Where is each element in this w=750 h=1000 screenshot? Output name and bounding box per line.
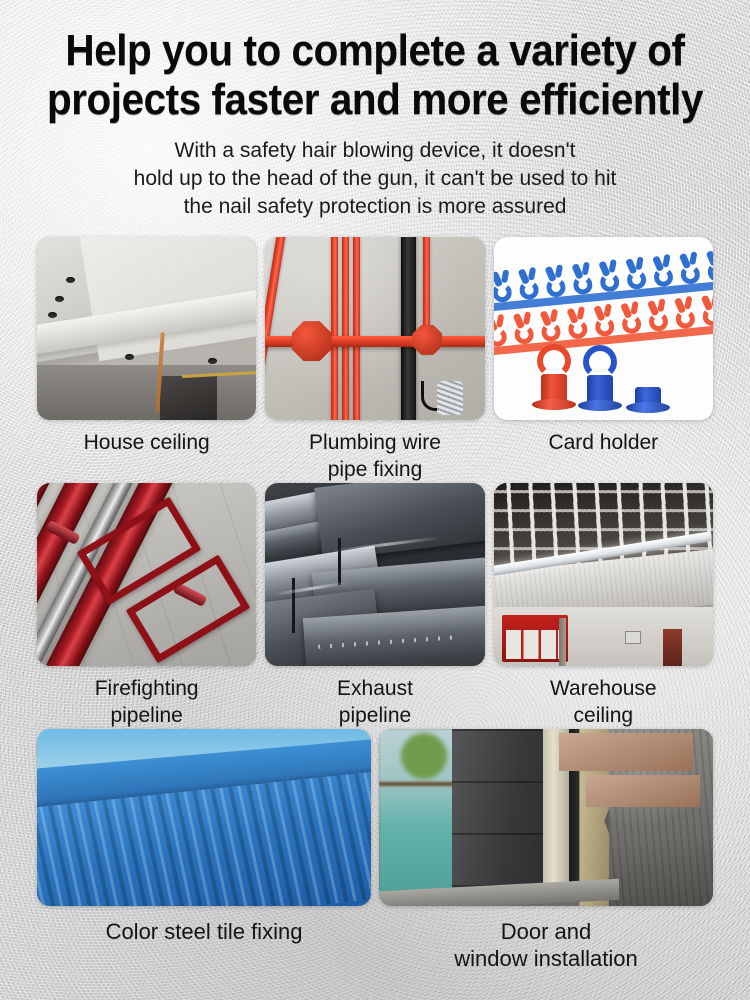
gallery-item-caption: Firefighting pipeline xyxy=(37,666,256,729)
gallery-item-door-window-installation[interactable]: Door and window installation xyxy=(379,729,713,972)
gallery-item-card-holder[interactable]: Card holder xyxy=(494,237,713,483)
gallery-item-caption: Card holder xyxy=(494,420,713,482)
headline-line-1: Help you to complete a variety of xyxy=(30,26,720,75)
gallery-item-exhaust-pipeline[interactable]: Exhaust pipeline xyxy=(265,483,484,729)
card-holder-product-photo xyxy=(494,237,713,420)
gallery-item-caption: Door and window installation xyxy=(379,906,713,972)
application-gallery: House ceiling xyxy=(0,221,750,972)
gallery-row: Firefighting pipeline xyxy=(37,483,713,729)
single-clip-red xyxy=(529,342,579,404)
gallery-item-color-steel-tile-fixing[interactable]: Color steel tile fixing xyxy=(37,729,371,972)
subtitle-line-1: With a safety hair blowing device, it do… xyxy=(0,137,750,165)
gallery-item-warehouse-ceiling[interactable]: Warehouse ceiling xyxy=(494,483,713,729)
gallery-item-caption: Exhaust pipeline xyxy=(265,666,484,729)
gallery-item-house-ceiling[interactable]: House ceiling xyxy=(37,237,256,483)
single-clip-blue xyxy=(577,349,623,405)
gallery-item-caption: Warehouse ceiling xyxy=(494,666,713,729)
single-clip-base-blue xyxy=(625,373,671,407)
gallery-item-caption: House ceiling xyxy=(37,420,256,482)
promo-page: Help you to complete a variety of projec… xyxy=(0,0,750,1000)
warehouse-ceiling-photo xyxy=(494,483,713,666)
page-title: Help you to complete a variety of projec… xyxy=(30,0,720,124)
firefighting-pipeline-photo xyxy=(37,483,256,666)
gallery-row: Color steel tile fixing xyxy=(37,729,713,972)
plumbing-wire-pipe-fixing-photo xyxy=(265,237,484,420)
subtitle-line-2: hold up to the head of the gun, it can't… xyxy=(0,165,750,193)
gallery-row: House ceiling xyxy=(37,237,713,483)
gallery-item-caption: Plumbing wire pipe fixing xyxy=(265,420,484,483)
gallery-item-firefighting-pipeline[interactable]: Firefighting pipeline xyxy=(37,483,256,729)
house-ceiling-photo xyxy=(37,237,256,420)
exhaust-pipeline-photo xyxy=(265,483,484,666)
gallery-item-caption: Color steel tile fixing xyxy=(37,906,371,968)
gallery-item-plumbing-wire-pipe-fixing[interactable]: Plumbing wire pipe fixing xyxy=(265,237,484,483)
headline-line-2: projects faster and more efficiently xyxy=(30,75,720,124)
page-subtitle: With a safety hair blowing device, it do… xyxy=(0,124,750,221)
color-steel-tile-roof-photo xyxy=(37,729,371,906)
door-window-installation-photo xyxy=(379,729,713,906)
subtitle-line-3: the nail safety protection is more assur… xyxy=(0,193,750,221)
